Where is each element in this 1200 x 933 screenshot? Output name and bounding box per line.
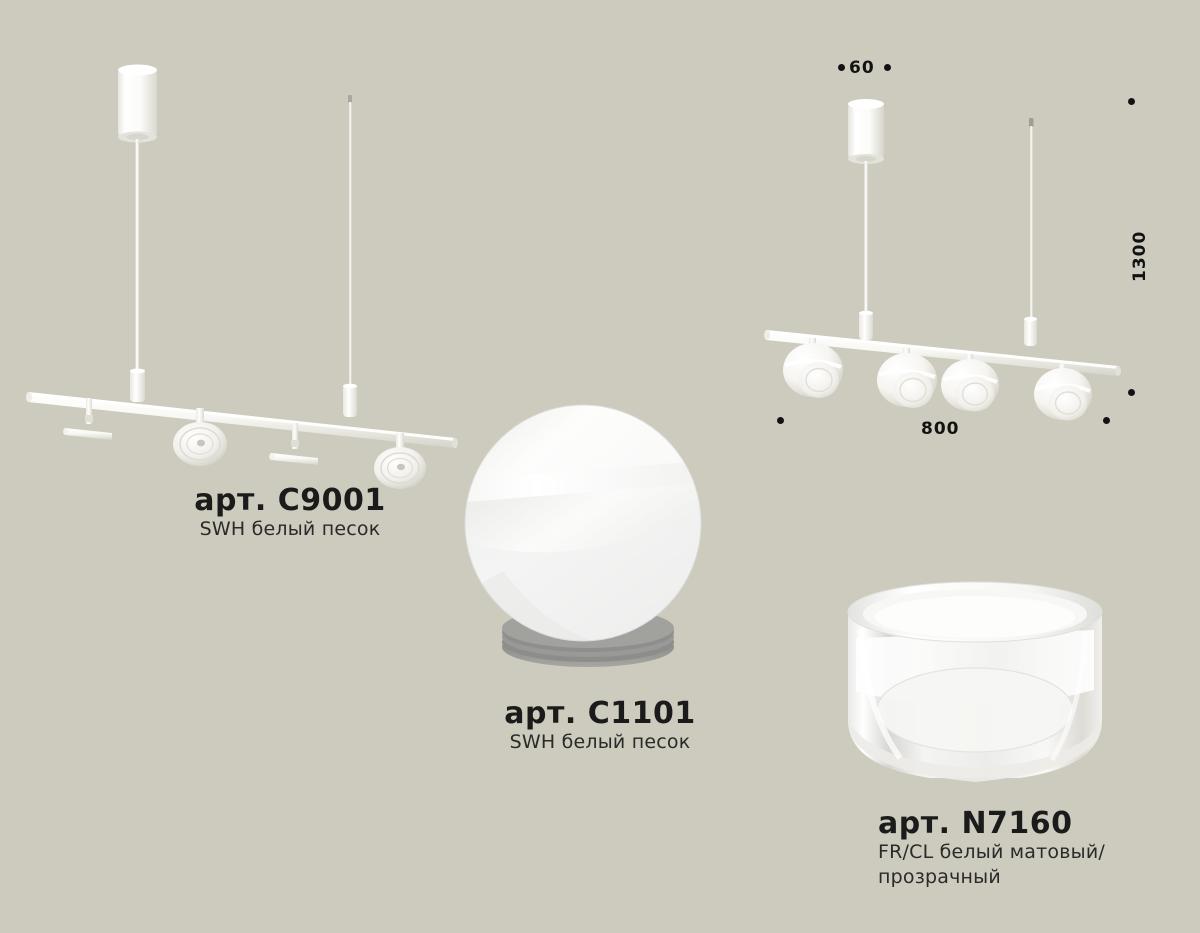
label-n7160-sub-line1: FR/CL белый матовый/	[878, 840, 1198, 866]
suspension-cable-right	[343, 95, 357, 417]
product-image-assembly	[760, 80, 1140, 410]
assembly-canopy-cylinder	[848, 99, 884, 164]
label-n7160: арт. N7160 FR/CL белый матовый/ прозрачн…	[878, 808, 1198, 891]
assembly-suspension-rod	[864, 161, 867, 321]
label-c1101: арт. C1101 SWH белый песок	[420, 698, 780, 755]
c9001-drawing	[0, 40, 480, 500]
glass-cylinder-body	[848, 582, 1102, 782]
suspension-rod-main	[136, 139, 140, 379]
dim-dot-60-right	[884, 64, 891, 71]
assembly-drawing	[760, 80, 1140, 410]
label-c9001-art: арт. C9001	[80, 485, 500, 517]
dim-label-800: 800	[921, 419, 960, 439]
product-image-c1101	[455, 385, 725, 685]
dim-dot-800-left	[777, 417, 784, 424]
spot-head-4	[1034, 364, 1092, 421]
c1101-drawing	[455, 385, 725, 685]
n7160-drawing	[830, 570, 1120, 800]
dim-label-1300: 1300	[1130, 231, 1150, 282]
spot-head-1	[783, 338, 843, 398]
dim-dot-800-right	[1103, 417, 1110, 424]
product-image-c9001	[0, 40, 480, 500]
label-n7160-art: арт. N7160	[878, 808, 1198, 840]
ball-shade-body	[445, 385, 725, 685]
product-sheet-canvas: арт. C9001 SWH белый песок	[0, 0, 1200, 933]
canopy-cylinder	[118, 65, 157, 143]
assembly-rod-connector-left	[859, 311, 873, 340]
label-c9001: арт. C9001 SWH белый песок	[80, 485, 500, 542]
spot-head-2	[877, 348, 937, 408]
rod-bar-connector-left	[130, 369, 145, 402]
dim-dot-60-left	[838, 64, 845, 71]
product-image-n7160	[830, 570, 1120, 800]
label-c1101-sub: SWH белый песок	[420, 730, 780, 756]
dim-label-60: 60	[849, 58, 875, 78]
dim-dot-1300-bottom	[1128, 389, 1135, 396]
label-n7160-sub-line2: прозрачный	[878, 865, 1198, 891]
assembly-suspension-cable	[1024, 118, 1037, 346]
label-c1101-art: арт. C1101	[420, 698, 780, 730]
dim-dot-1300-top	[1128, 98, 1135, 105]
label-c9001-sub: SWH белый песок	[80, 517, 500, 543]
